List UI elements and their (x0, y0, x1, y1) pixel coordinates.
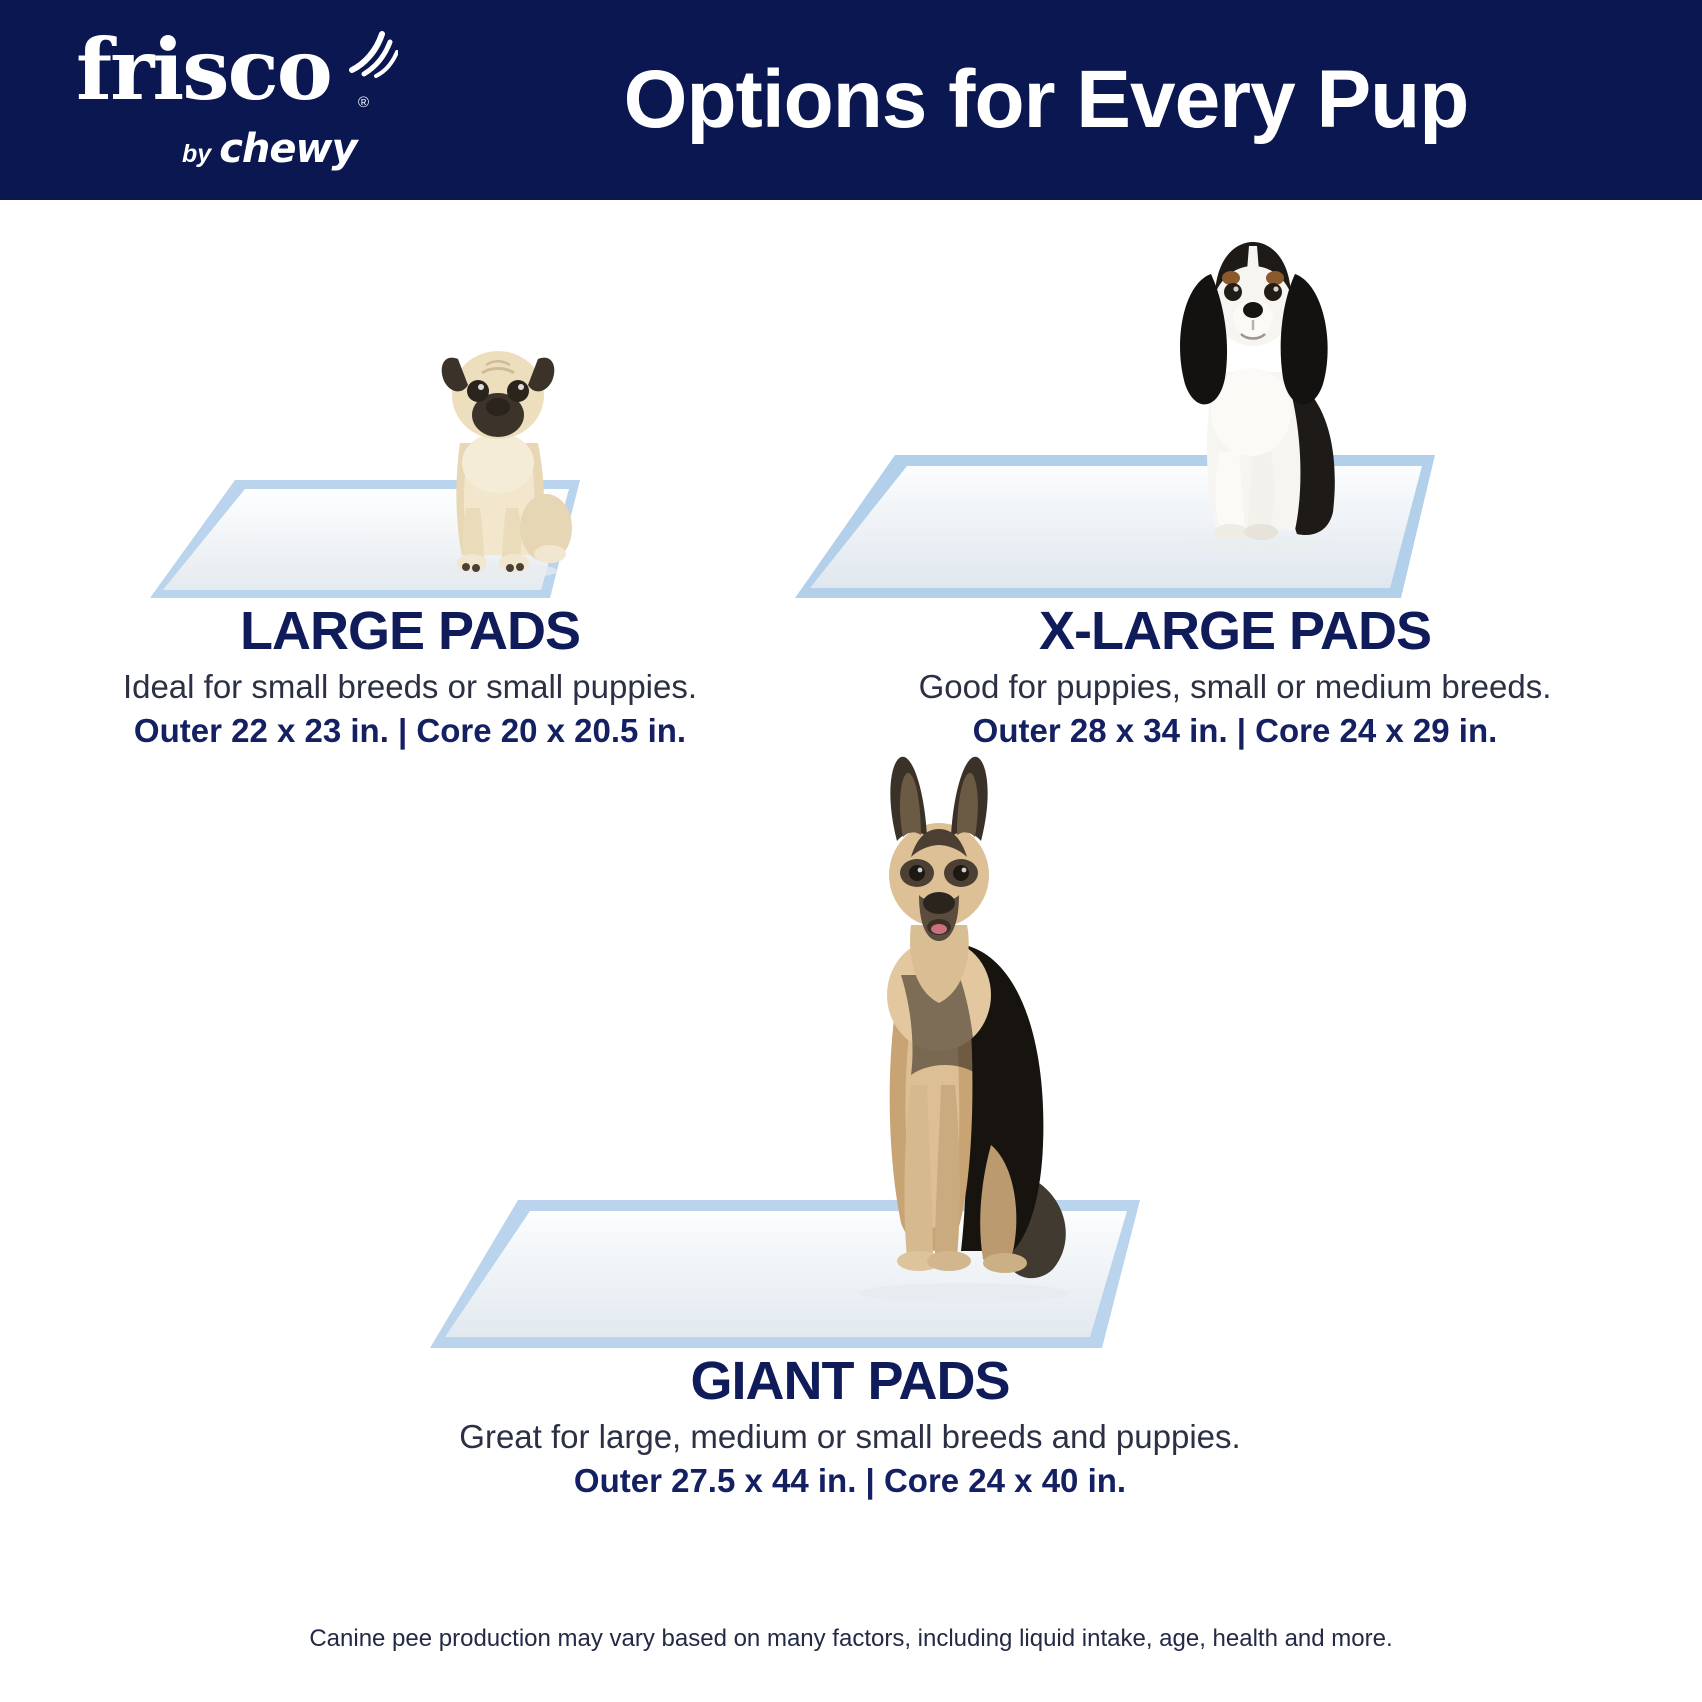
brand-logo: frisco ® by chewy (70, 28, 400, 168)
product-dimensions: Outer 27.5 x 44 in. | Core 24 x 40 in. (300, 1462, 1400, 1500)
product-image-xlarge (790, 210, 1680, 600)
product-card-large: LARGE PADS Ideal for small breeds or sma… (20, 210, 800, 750)
product-card-giant: GIANT PADS Great for large, medium or sm… (300, 740, 1400, 1500)
product-description: Ideal for small breeds or small puppies. (20, 668, 800, 706)
disclaimer-text: Canine pee production may vary based on … (0, 1625, 1702, 1653)
product-image-large (20, 210, 800, 600)
brand-wordmark: frisco (76, 28, 331, 112)
product-title: X-LARGE PADS (790, 600, 1680, 662)
product-caption-large: LARGE PADS Ideal for small breeds or sma… (20, 600, 800, 750)
header-bar: frisco ® by chewy Options for Every Pup (0, 0, 1702, 200)
product-image-giant (300, 740, 1400, 1350)
product-caption-xlarge: X-LARGE PADS Good for puppies, small or … (790, 600, 1680, 750)
product-title: LARGE PADS (20, 600, 800, 662)
frisco-swoosh-icon (342, 30, 398, 78)
cavalier-spaniel-dog-icon (1145, 222, 1365, 552)
brand-byline: by chewy (182, 126, 357, 172)
product-description: Good for puppies, small or medium breeds… (790, 668, 1680, 706)
byline-prefix: by (182, 140, 211, 169)
registered-trademark-icon: ® (358, 94, 369, 111)
pug-dog-icon (410, 323, 585, 578)
product-title: GIANT PADS (300, 1350, 1400, 1412)
german-shepherd-dog-icon (815, 745, 1105, 1305)
product-card-xlarge: X-LARGE PADS Good for puppies, small or … (790, 210, 1680, 750)
byline-chewy-wordmark: chewy (219, 126, 356, 172)
product-description: Great for large, medium or small breeds … (300, 1418, 1400, 1456)
page-title: Options for Every Pup (430, 0, 1702, 200)
product-caption-giant: GIANT PADS Great for large, medium or sm… (300, 1350, 1400, 1500)
